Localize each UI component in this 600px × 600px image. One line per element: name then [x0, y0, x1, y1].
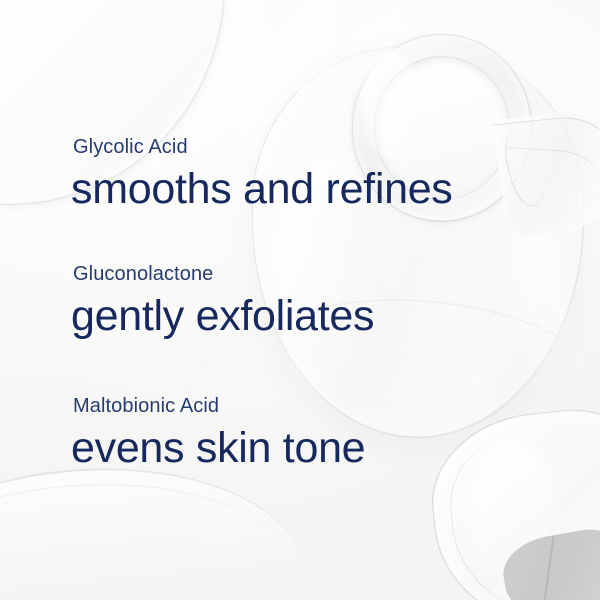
benefit-ingredient-label: Gluconolactone — [73, 263, 374, 286]
benefit-claim-headline: smooths and refines — [71, 165, 453, 213]
benefit-item-maltobionic-acid: Maltobionic Acid evens skin tone — [73, 395, 365, 472]
marketing-graphic-canvas: Glycolic Acid smooths and refines Glucon… — [0, 0, 600, 600]
benefit-ingredient-label: Maltobionic Acid — [73, 395, 365, 418]
benefit-claim-headline: gently exfoliates — [71, 292, 374, 340]
benefit-claim-headline: evens skin tone — [71, 424, 365, 472]
benefit-ingredient-label: Glycolic Acid — [73, 136, 453, 159]
benefit-item-gluconolactone: Gluconolactone gently exfoliates — [73, 263, 374, 340]
benefit-item-glycolic-acid: Glycolic Acid smooths and refines — [73, 136, 453, 213]
benefit-text-block: Glycolic Acid smooths and refines Glucon… — [0, 0, 600, 600]
